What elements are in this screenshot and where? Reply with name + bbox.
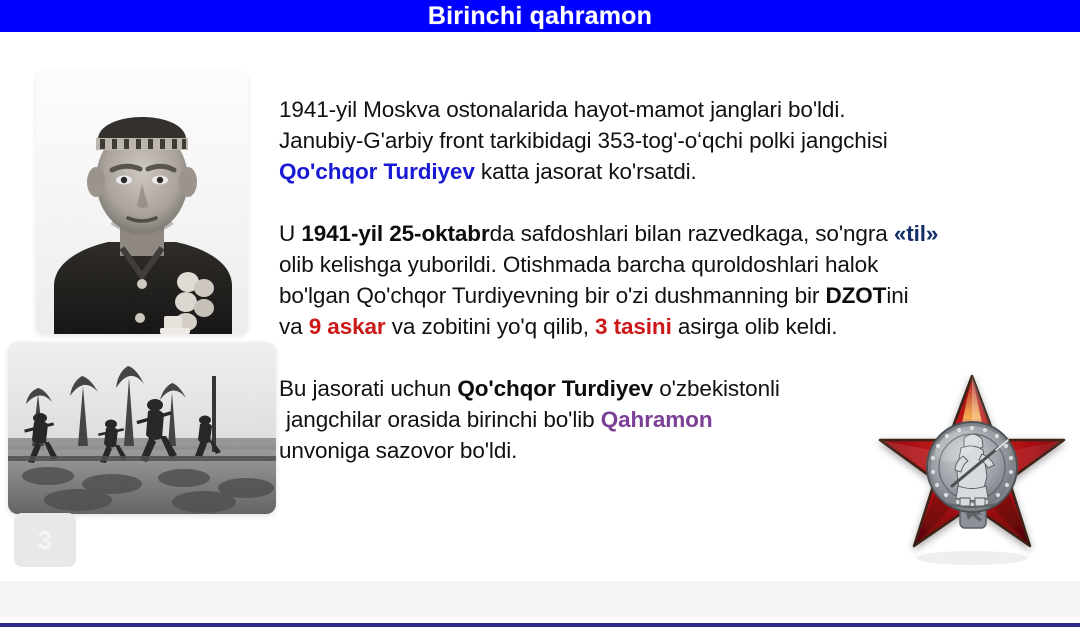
p2-line4-a: va [279,314,309,339]
red-star-medal [868,368,1076,568]
bottom-rule [0,623,1080,627]
p2-line3-c: ini [886,283,908,308]
til-highlight: «til» [894,221,939,246]
paragraph-2: U 1941-yil 25-oktabrda safdoshlari bilan… [279,218,1069,342]
date-highlight: 1941-yil 25-oktabr [301,221,489,246]
dzot-highlight: DZOT [825,283,886,308]
soldiers-count-highlight: 9 askar [309,314,386,339]
p2-line4-e: asirga olib keldi. [672,314,838,339]
qahramon-highlight: Qahramon [601,407,713,432]
slide-canvas: Birinchi qahramon [0,0,1080,627]
prisoners-count-highlight: 3 tasini [595,314,672,339]
hero-name-bold: Qo'chqor Turdiyev [457,376,653,401]
p3-line1-a: Bu jasorati uchun [279,376,457,401]
portrait-photo [36,72,248,334]
title-banner: Birinchi qahramon [0,0,1080,32]
p2-line4-c: va zobitini yo'q qilib, [386,314,595,339]
p3-line1-c: o'zbekistonli [653,376,780,401]
page-title: Birinchi qahramon [428,4,652,29]
p3-line2-a: jangchilar orasida birinchi bo'lib [279,407,601,432]
p2-line1-a: U [279,221,301,246]
battle-scene-photo [8,342,276,514]
p2-line3-a: bo'lgan Qo'chqor Turdiyevning bir o'zi d… [279,283,825,308]
red-star-medal-graphic [868,368,1076,568]
portrait-photo-graphic [36,72,248,334]
battle-scene-graphic [8,342,276,514]
paragraph-1: 1941-yil Moskva ostonalarida hayot-mamot… [279,94,1069,187]
medal-watermark [1003,549,1073,565]
p1-line3-tail: katta jasorat ko'rsatdi. [475,159,697,184]
p3-line3: unvoniga sazovor bo'ldi. [279,438,517,463]
bottom-band [0,581,1080,617]
hero-name-highlight: Qo'chqor Turdiyev [279,159,475,184]
p1-line1: 1941-yil Moskva ostonalarida hayot-mamot… [279,97,845,122]
p2-line2: olib kelishga yuborildi. Otishmada barch… [279,252,878,277]
p1-line2: Janubiy-G'arbiy front tarkibidagi 353-to… [279,128,888,153]
slide-number-label: 3 [38,525,52,556]
slide-number-badge: 3 [14,513,76,567]
p2-line1-c: da safdoshlari bilan razvedkaga, so'ngra [490,221,894,246]
